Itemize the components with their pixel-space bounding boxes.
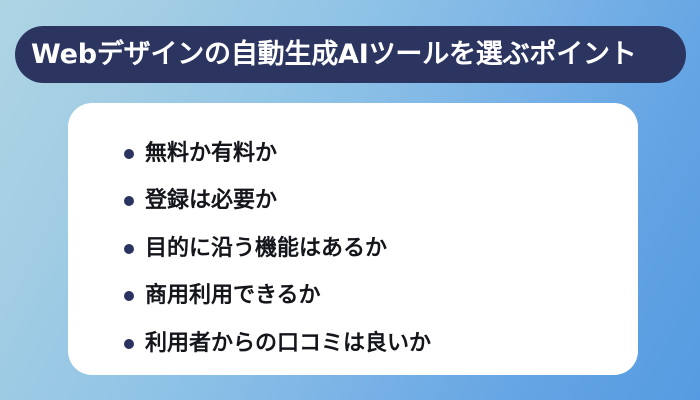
title-bar: Webデザインの自動生成AIツールを選ぶポイント <box>15 26 686 83</box>
list-item-label: 商用利用できるか <box>145 285 321 307</box>
list-item: 利用者からの口コミは良いか <box>124 320 431 368</box>
points-list: 無料か有料か 登録は必要か 目的に沿う機能はあるか 商用利用できるか 利用者から… <box>124 130 431 368</box>
list-item: 無料か有料か <box>124 130 431 178</box>
slide-canvas: Webデザインの自動生成AIツールを選ぶポイント 無料か有料か 登録は必要か 目… <box>0 0 700 400</box>
bullet-dot-icon <box>124 339 134 349</box>
list-item: 商用利用できるか <box>124 273 431 321</box>
list-item: 登録は必要か <box>124 178 431 226</box>
list-item: 目的に沿う機能はあるか <box>124 225 431 273</box>
bullet-dot-icon <box>124 149 134 159</box>
list-item-label: 登録は必要か <box>145 190 277 212</box>
list-item-label: 無料か有料か <box>145 143 277 165</box>
list-item-label: 目的に沿う機能はあるか <box>145 238 387 260</box>
bullet-dot-icon <box>124 291 134 301</box>
bullet-dot-icon <box>124 244 134 254</box>
list-item-label: 利用者からの口コミは良いか <box>145 333 431 355</box>
bullet-dot-icon <box>124 196 134 206</box>
content-card: 無料か有料か 登録は必要か 目的に沿う機能はあるか 商用利用できるか 利用者から… <box>68 103 638 375</box>
page-title: Webデザインの自動生成AIツールを選ぶポイント <box>31 41 637 68</box>
